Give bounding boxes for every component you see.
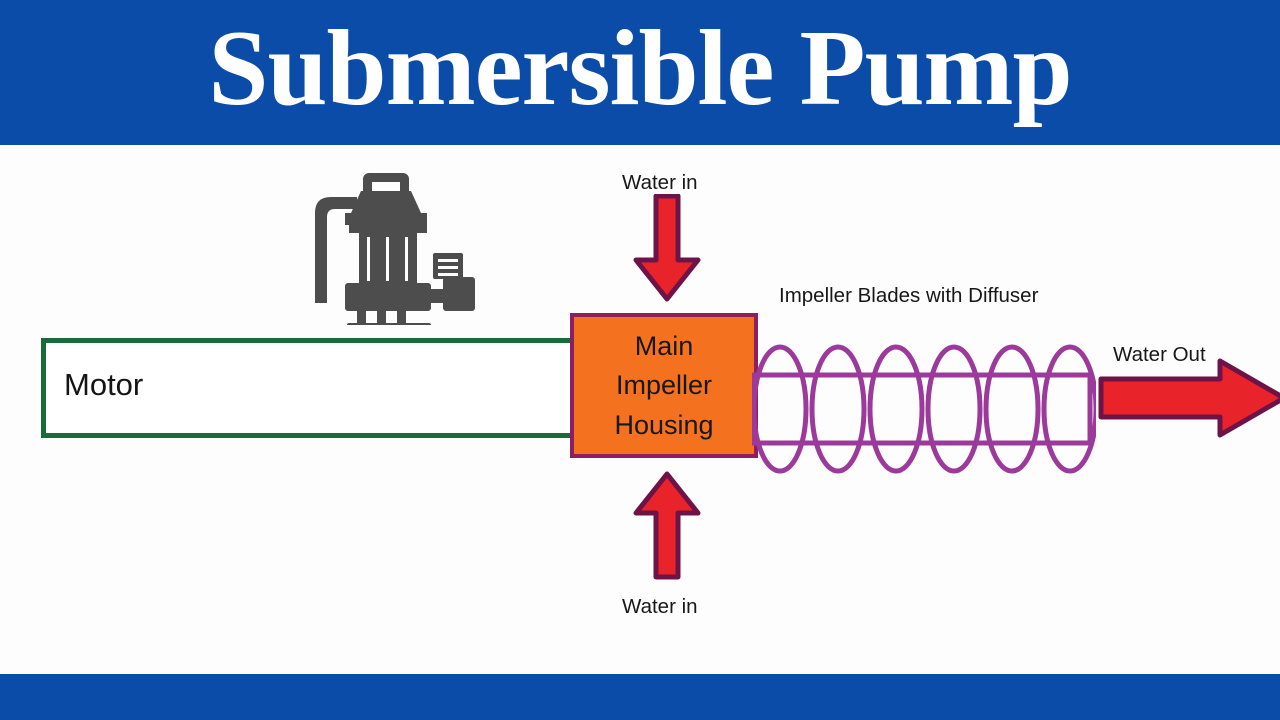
submersible-pump-icon [305, 165, 485, 330]
pump-diagram: Water in Motor Main Impeller Housing Imp… [0, 145, 1280, 674]
water-out-arrow-icon [1098, 358, 1280, 443]
water-in-top-arrow-icon [631, 194, 703, 307]
housing-label-line1: Main [635, 327, 694, 366]
label-water-in-bottom: Water in [622, 595, 698, 619]
impeller-blades-diffuser [752, 335, 1096, 490]
slide-canvas: Submersible Pump [0, 0, 1280, 720]
page-title: Submersible Pump [0, 0, 1280, 145]
bottom-banner [0, 674, 1280, 720]
motor-label: Motor [64, 367, 143, 403]
diffuser-label: Impeller Blades with Diffuser [779, 284, 1038, 308]
water-in-bottom-arrow-icon [631, 470, 703, 585]
housing-label-line2: Impeller [616, 366, 712, 405]
main-impeller-housing: Main Impeller Housing [570, 313, 758, 458]
label-water-in-top: Water in [622, 171, 698, 195]
housing-label-line3: Housing [614, 406, 713, 445]
